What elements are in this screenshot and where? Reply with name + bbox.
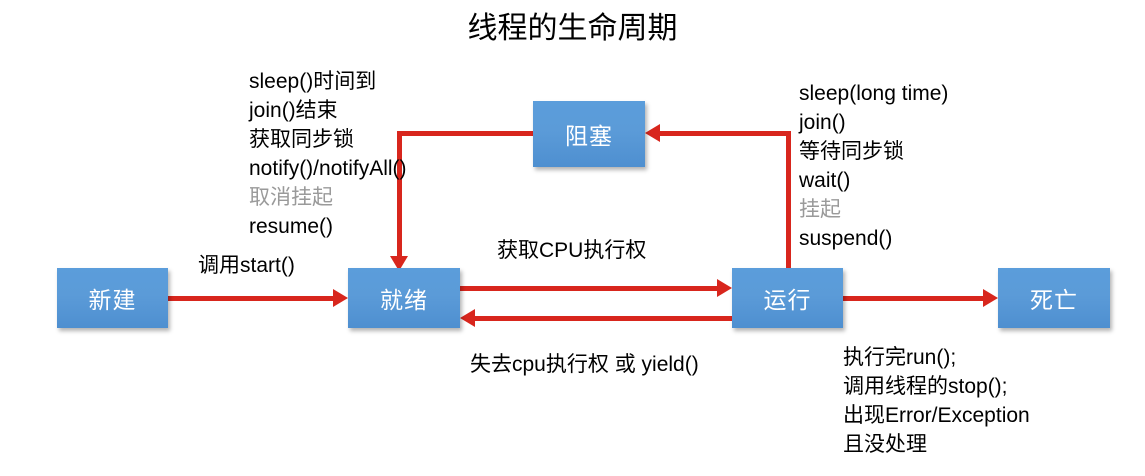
unblock-conditions-block: sleep()时间到 join()结束 获取同步锁 notify()/notif…	[249, 67, 407, 241]
arrowhead-new-to-runnable	[333, 289, 348, 307]
unblock-line: 获取同步锁	[249, 125, 407, 154]
state-box-dead-label: 死亡	[1030, 281, 1078, 315]
arrowhead-running-to-blocked	[645, 124, 660, 142]
unblock-line: notify()/notifyAll()	[249, 154, 407, 183]
death-line: 且没处理	[843, 430, 1030, 459]
unblock-line: join()结束	[249, 96, 407, 125]
unblock-line: 取消挂起	[249, 183, 407, 212]
death-line: 执行完run();	[843, 343, 1030, 372]
death-conditions-block: 执行完run(); 调用线程的stop(); 出现Error/Exception…	[843, 343, 1030, 459]
block-line: 等待同步锁	[799, 137, 948, 166]
state-box-running-label: 运行	[764, 281, 812, 315]
state-box-blocked-label: 阻塞	[565, 117, 613, 151]
connector-running-to-blocked-horizontal	[660, 131, 788, 136]
block-line: join()	[799, 108, 948, 137]
block-line: wait()	[799, 166, 948, 195]
arrowhead-running-to-runnable	[460, 309, 475, 327]
edge-label-get-cpu: 获取CPU执行权	[497, 237, 646, 264]
page-title: 线程的生命周期	[0, 10, 1145, 48]
arrowhead-running-to-dead	[983, 289, 998, 307]
state-box-running[interactable]: 运行	[732, 268, 843, 328]
connector-runnable-to-running	[460, 286, 717, 291]
block-line: 挂起	[799, 195, 948, 224]
block-line: suspend()	[799, 224, 948, 253]
state-box-new[interactable]: 新建	[57, 268, 168, 328]
block-line: sleep(long time)	[799, 79, 948, 108]
edge-label-start: 调用start()	[198, 252, 295, 279]
state-box-runnable[interactable]: 就绪	[348, 268, 460, 328]
state-box-dead[interactable]: 死亡	[998, 268, 1110, 328]
state-box-blocked[interactable]: 阻塞	[533, 101, 645, 167]
arrowhead-runnable-to-running	[717, 279, 732, 297]
block-conditions-block: sleep(long time) join() 等待同步锁 wait() 挂起 …	[799, 79, 948, 253]
thread-lifecycle-diagram: 线程的生命周期 新建 就绪 运行 死亡 阻塞 调用start() 获取CPU执行…	[0, 0, 1145, 476]
connector-running-to-dead	[843, 296, 983, 301]
state-box-new-label: 新建	[89, 281, 137, 315]
state-box-runnable-label: 就绪	[380, 281, 428, 315]
connector-new-to-runnable	[168, 296, 333, 301]
edge-label-lose-cpu: 失去cpu执行权 或 yield()	[470, 351, 699, 378]
unblock-line: resume()	[249, 212, 407, 241]
connector-running-to-blocked-vertical	[786, 131, 791, 271]
unblock-line: sleep()时间到	[249, 67, 407, 96]
death-line: 出现Error/Exception	[843, 401, 1030, 430]
connector-running-to-runnable	[475, 316, 732, 321]
death-line: 调用线程的stop();	[843, 372, 1030, 401]
connector-blocked-to-runnable-horizontal	[397, 131, 533, 136]
